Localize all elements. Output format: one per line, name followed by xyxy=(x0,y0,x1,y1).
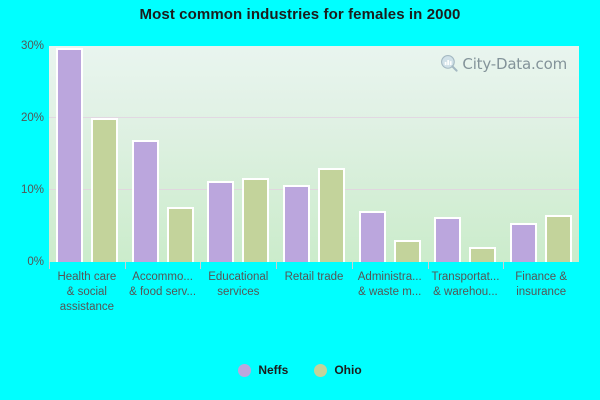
bar-ohio[interactable] xyxy=(469,247,496,262)
x-axis-label-line: & food serv... xyxy=(125,285,201,300)
x-axis-label-line: & waste m... xyxy=(352,285,428,300)
legend-swatch-icon xyxy=(314,364,327,377)
bar-group xyxy=(125,46,201,262)
x-axis-label-line: assistance xyxy=(49,300,125,315)
y-axis-tick-20: 20% xyxy=(0,112,44,124)
bar-neffs[interactable] xyxy=(207,181,234,262)
bar-group xyxy=(503,46,579,262)
chart-title: Most common industries for females in 20… xyxy=(0,6,600,23)
bar-ohio[interactable] xyxy=(394,240,421,262)
x-axis-label-line: Health care xyxy=(49,270,125,285)
x-axis-label-0: Health care& socialassistance xyxy=(49,264,125,330)
bars-layer xyxy=(49,46,579,262)
x-axis: Health care& socialassistanceAccommo...&… xyxy=(49,264,579,330)
x-axis-label-line: & social xyxy=(49,285,125,300)
legend-label: Ohio xyxy=(334,363,361,377)
x-axis-tick-mark xyxy=(352,262,353,269)
bar-ohio[interactable] xyxy=(167,207,194,262)
bar-group xyxy=(352,46,428,262)
bar-neffs[interactable] xyxy=(132,140,159,262)
x-axis-label-line: Finance & xyxy=(503,270,579,285)
bar-neffs[interactable] xyxy=(434,217,461,262)
x-axis-label-line: Educational xyxy=(200,270,276,285)
legend-swatch-icon xyxy=(238,364,251,377)
x-axis-label-2: Educationalservices xyxy=(200,264,276,330)
y-axis-tick-10: 10% xyxy=(0,184,44,196)
x-axis-tick-mark xyxy=(428,262,429,269)
bar-group xyxy=(49,46,125,262)
x-axis-tick-mark xyxy=(503,262,504,269)
bar-ohio[interactable] xyxy=(545,215,572,262)
x-axis-label-line: & warehou... xyxy=(428,285,504,300)
x-axis-tick-mark xyxy=(49,262,50,269)
x-axis-label-6: Finance &insurance xyxy=(503,264,579,330)
bar-group xyxy=(428,46,504,262)
x-axis-label-5: Transportat...& warehou... xyxy=(428,264,504,330)
chart-legend: NeffsOhio xyxy=(0,363,600,377)
bar-neffs[interactable] xyxy=(359,211,386,262)
x-axis-label-line: Accommo... xyxy=(125,270,201,285)
bar-chart: Most common industries for females in 20… xyxy=(0,0,600,400)
x-axis-label-line: Administra... xyxy=(352,270,428,285)
x-axis-tick-mark xyxy=(125,262,126,269)
bar-neffs[interactable] xyxy=(56,48,83,262)
x-axis-tick-mark xyxy=(200,262,201,269)
x-axis-label-line: insurance xyxy=(503,285,579,300)
x-axis-label-3: Retail trade xyxy=(276,264,352,330)
x-axis-label-line: Transportat... xyxy=(428,270,504,285)
bar-ohio[interactable] xyxy=(91,118,118,262)
bar-ohio[interactable] xyxy=(318,168,345,262)
x-axis-label-line: services xyxy=(200,285,276,300)
y-axis-tick-30: 30% xyxy=(0,40,44,52)
bar-group xyxy=(276,46,352,262)
legend-item-ohio[interactable]: Ohio xyxy=(314,363,361,377)
y-axis-tick-0: 0% xyxy=(0,256,44,268)
legend-label: Neffs xyxy=(258,363,288,377)
x-axis-label-1: Accommo...& food serv... xyxy=(125,264,201,330)
x-axis-label-4: Administra...& waste m... xyxy=(352,264,428,330)
bar-neffs[interactable] xyxy=(283,185,310,262)
bar-ohio[interactable] xyxy=(242,178,269,262)
x-axis-label-line: Retail trade xyxy=(276,270,352,285)
legend-item-neffs[interactable]: Neffs xyxy=(238,363,288,377)
bar-neffs[interactable] xyxy=(510,223,537,262)
bar-group xyxy=(200,46,276,262)
x-axis-tick-mark xyxy=(276,262,277,269)
